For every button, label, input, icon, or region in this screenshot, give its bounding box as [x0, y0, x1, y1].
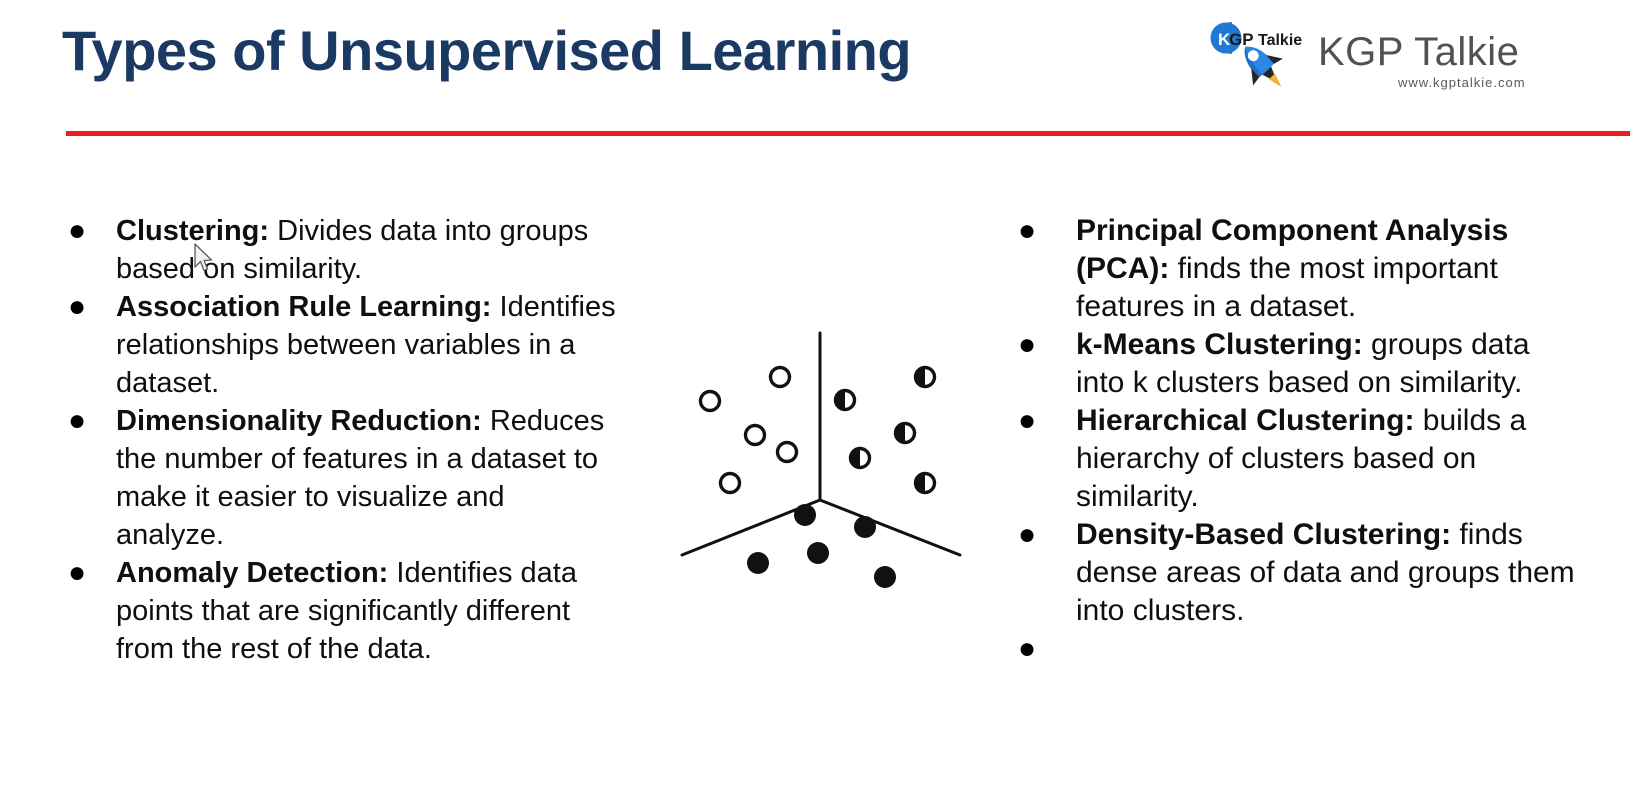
data-point-hollow — [701, 392, 720, 411]
brand-wordmark: KGP Talkie — [1318, 30, 1519, 75]
bullet-dot-icon: ● — [1010, 630, 1076, 668]
data-point-half — [851, 449, 870, 468]
bullet-text — [1076, 630, 1580, 640]
data-point-hollow — [746, 426, 765, 445]
data-point-solid — [747, 552, 769, 574]
list-item: ● Association Rule Learning: Identifies … — [60, 288, 620, 402]
bullet-text: Anomaly Detection: Identifies data point… — [116, 554, 620, 668]
bullet-text: Principal Component Analysis (PCA): find… — [1076, 212, 1580, 326]
page-title: Types of Unsupervised Learning — [62, 18, 911, 83]
solid-circle-cluster — [747, 504, 896, 588]
data-point-half — [836, 391, 855, 410]
data-point-solid — [794, 504, 816, 526]
brand-logo-group: K GP Talkie KGP Talkie www.kgptalkie.com — [1196, 8, 1628, 104]
bullet-dot-icon: ● — [1010, 402, 1076, 440]
svg-text:GP: GP — [1229, 30, 1254, 49]
bullet-term: Density-Based Clustering: — [1076, 518, 1451, 551]
bullet-term: k-Means Clustering: — [1076, 328, 1363, 361]
list-item: ● Dimensionality Reduction: Reduces the … — [60, 402, 620, 554]
data-point-hollow — [771, 368, 790, 387]
bullet-term: Hierarchical Clustering: — [1076, 404, 1414, 437]
bullet-term: Clustering: — [116, 215, 269, 247]
bullet-dot-icon: ● — [1010, 212, 1076, 250]
title-underline-rule — [66, 131, 1630, 136]
bullet-text: Hierarchical Clustering: builds a hierar… — [1076, 402, 1580, 516]
bullet-text: Density-Based Clustering: finds dense ar… — [1076, 516, 1580, 630]
data-point-hollow — [778, 443, 797, 462]
bullet-text: Dimensionality Reduction: Reduces the nu… — [116, 402, 620, 554]
data-point-hollow — [721, 474, 740, 493]
bullet-dot-icon: ● — [60, 288, 116, 326]
bullet-term: Dimensionality Reduction: — [116, 405, 482, 437]
data-point-half — [916, 368, 935, 387]
bullet-term: Anomaly Detection: — [116, 557, 388, 589]
bullet-text: Clustering: Divides data into groups bas… — [116, 212, 620, 288]
data-point-half — [896, 424, 915, 443]
list-item: ● Principal Component Analysis (PCA): fi… — [1010, 212, 1580, 326]
bullet-dot-icon: ● — [60, 402, 116, 440]
bullet-text: k-Means Clustering: groups data into k c… — [1076, 326, 1580, 402]
right-bullet-list: ● Principal Component Analysis (PCA): fi… — [1010, 212, 1580, 668]
half-filled-circle-cluster — [836, 368, 935, 493]
bullet-text: Association Rule Learning: Identifies re… — [116, 288, 620, 402]
bullet-dot-icon: ● — [1010, 326, 1076, 364]
data-point-solid — [874, 566, 896, 588]
data-point-half — [916, 474, 935, 493]
bullet-dot-icon: ● — [60, 212, 116, 250]
bullet-dot-icon: ● — [1010, 516, 1076, 554]
lower-right-divider-line — [820, 500, 960, 555]
list-item: ● Hierarchical Clustering: builds a hier… — [1010, 402, 1580, 516]
hollow-circle-cluster — [701, 368, 797, 493]
kgp-talkie-rocket-logo-icon: K GP Talkie — [1196, 16, 1322, 104]
bullet-dot-icon: ● — [60, 554, 116, 592]
partition-lines — [682, 333, 960, 555]
data-point-solid — [807, 542, 829, 564]
list-item: ● k-Means Clustering: groups data into k… — [1010, 326, 1580, 402]
brand-url: www.kgptalkie.com — [1398, 75, 1526, 90]
svg-text:Talkie: Talkie — [1258, 32, 1302, 49]
data-point-solid — [854, 516, 876, 538]
list-item: ● Density-Based Clustering: finds dense … — [1010, 516, 1580, 630]
bullet-term: Association Rule Learning: — [116, 291, 491, 323]
left-bullet-list: ● Clustering: Divides data into groups b… — [60, 212, 620, 668]
list-item: ● Anomaly Detection: Identifies data poi… — [60, 554, 620, 668]
list-item-empty: ● — [1010, 630, 1580, 668]
three-cluster-partition-diagram — [660, 315, 990, 605]
list-item: ● Clustering: Divides data into groups b… — [60, 212, 620, 288]
